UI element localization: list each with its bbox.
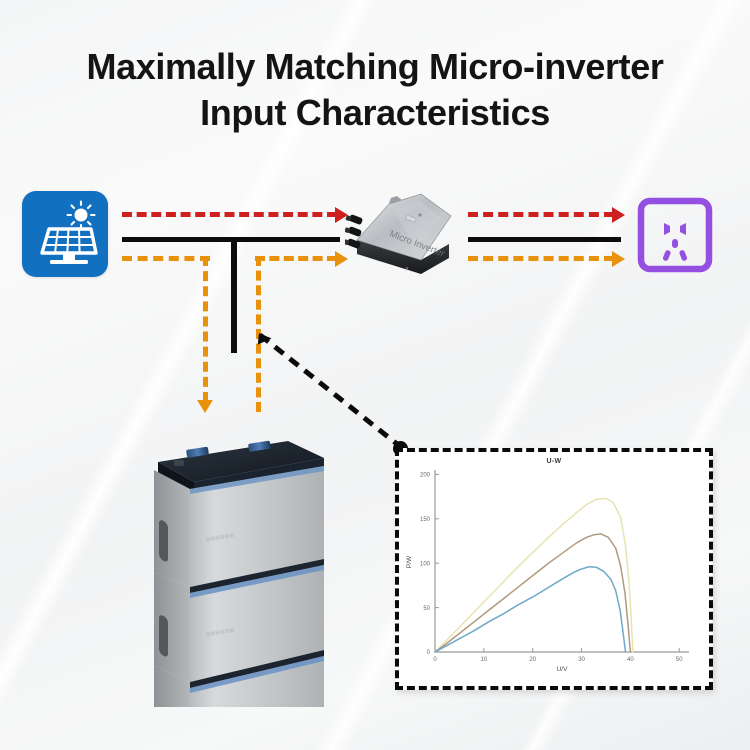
- flow-battery-drop-left: [203, 256, 208, 402]
- power-voltage-chart: 050100150200 01020304050 U/V P/W: [399, 452, 709, 686]
- svg-text:50: 50: [423, 606, 430, 612]
- chart-y-ticks: 050100150200: [420, 473, 439, 657]
- flow-pv-ac-right: [255, 256, 337, 261]
- flow-pv-dc-line: [122, 212, 337, 217]
- title-line-2: Input Characteristics: [0, 90, 750, 136]
- chart-panel: U-W 050100150200 01020304050 U/V P/W: [395, 448, 713, 690]
- svg-text:40: 40: [627, 657, 634, 663]
- power-socket-icon: [636, 196, 714, 274]
- flow-out-bus-line: [468, 237, 621, 242]
- svg-text:200: 200: [420, 473, 431, 479]
- flow-bus-drop: [231, 237, 237, 353]
- flow-pv-ac-arrow: [335, 251, 348, 267]
- diagram-canvas: Maximally Matching Micro-inverter Input …: [0, 0, 750, 750]
- flow-pv-ac-left: [122, 256, 210, 261]
- svg-text:100: 100: [420, 561, 431, 567]
- flow-battery-drop-left-arrow: [197, 400, 213, 413]
- svg-text:0: 0: [427, 650, 431, 656]
- solar-panel-glyph: [22, 191, 108, 277]
- micro-inverter-icon: Micro Inverter: [345, 188, 465, 278]
- svg-text:20: 20: [529, 657, 536, 663]
- power-socket-glyph: [636, 196, 714, 274]
- chart-xlabel: U/V: [557, 666, 569, 673]
- flow-out-dc-line: [468, 212, 614, 217]
- chart-x-ticks: 01020304050: [433, 648, 683, 663]
- battery-stack-glyph: ■■■■■■ ■■■■■■ ■■■■■■: [128, 432, 338, 707]
- battery-stack-icon: ■■■■■■ ■■■■■■ ■■■■■■: [128, 432, 338, 707]
- svg-text:10: 10: [481, 657, 488, 663]
- flow-out-ac-line: [468, 256, 614, 261]
- chart-curves: [435, 498, 633, 652]
- flow-pv-dc-arrow: [335, 207, 348, 223]
- svg-text:50: 50: [676, 657, 683, 663]
- flow-out-ac-arrow: [612, 251, 625, 267]
- svg-text:0: 0: [433, 657, 437, 663]
- flow-out-dc-arrow: [612, 207, 625, 223]
- page-title: Maximally Matching Micro-inverter Input …: [0, 44, 750, 136]
- solar-panel-icon: [22, 191, 108, 277]
- svg-text:150: 150: [420, 517, 431, 523]
- svg-text:30: 30: [578, 657, 585, 663]
- title-line-1: Maximally Matching Micro-inverter: [87, 46, 664, 87]
- chart-ylabel: P/W: [406, 555, 413, 568]
- chart-curve-curve-low: [435, 567, 626, 652]
- micro-inverter-glyph: Micro Inverter: [345, 188, 465, 278]
